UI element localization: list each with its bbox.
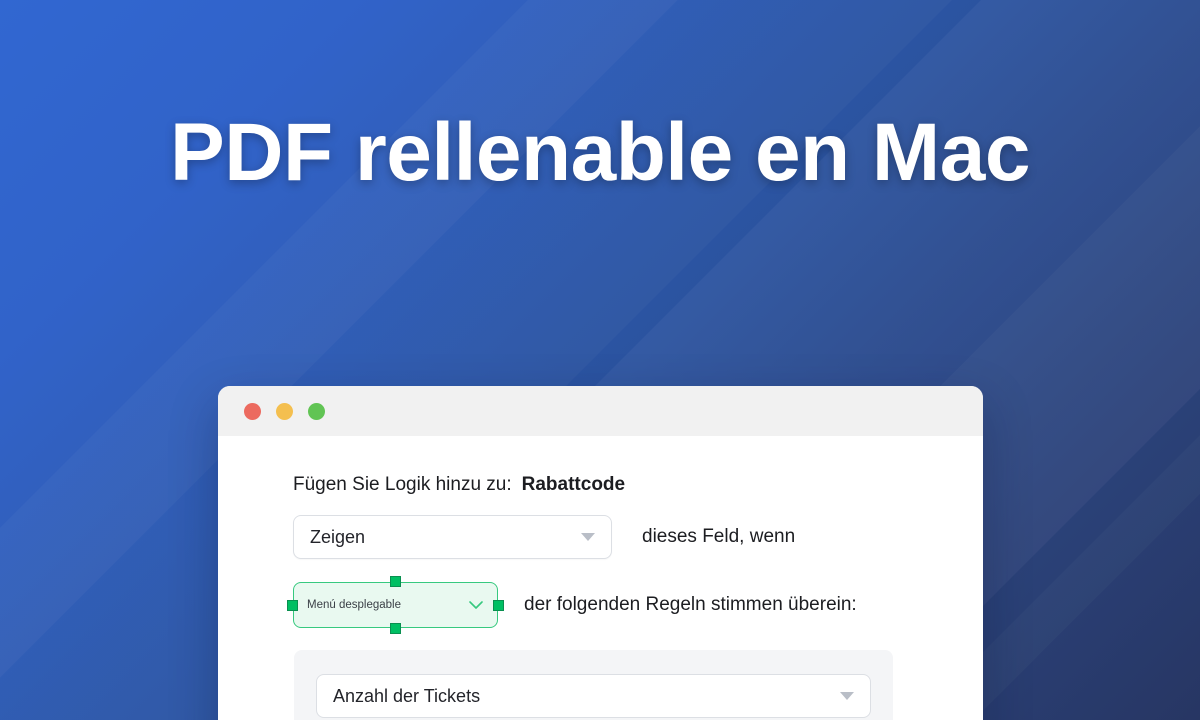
page-title: PDF rellenable en Mac [0, 96, 1200, 209]
rules-panel: Anzahl der Tickets [294, 650, 893, 720]
minimize-button[interactable] [276, 403, 293, 420]
logic-heading: Fügen Sie Logik hinzu zu:Rabattcode [293, 474, 625, 496]
window-titlebar [218, 386, 983, 436]
window-content: Fügen Sie Logik hinzu zu:Rabattcode Zeig… [218, 436, 983, 720]
rule-field-select[interactable]: Anzahl der Tickets [316, 674, 871, 718]
chevron-down-icon [469, 601, 483, 609]
browser-window: Fügen Sie Logik hinzu zu:Rabattcode Zeig… [218, 386, 983, 720]
close-button[interactable] [244, 403, 261, 420]
action-select-value: Zeigen [310, 527, 365, 548]
match-row: Menú desplegable der folgenden Regeln st… [218, 582, 983, 628]
selection-handle-bottom[interactable] [390, 623, 401, 634]
zoom-button[interactable] [308, 403, 325, 420]
selection-handle-left[interactable] [287, 600, 298, 611]
rule-field-value: Anzahl der Tickets [333, 686, 480, 707]
action-select[interactable]: Zeigen [293, 515, 612, 559]
caret-down-icon [840, 692, 854, 700]
match-select-wrapper: Menú desplegable [293, 582, 498, 628]
logic-heading-label: Fügen Sie Logik hinzu zu: [293, 474, 512, 495]
action-row: Zeigen dieses Feld, wenn [218, 515, 983, 559]
selection-handle-top[interactable] [390, 576, 401, 587]
hero-stage: PDF rellenable en Mac Fügen Sie Logik hi… [0, 0, 1200, 720]
logic-field-name: Rabattcode [522, 474, 625, 495]
selection-handle-right[interactable] [493, 600, 504, 611]
logic-heading-row: Fügen Sie Logik hinzu zu:Rabattcode [218, 474, 983, 496]
action-after-text: dieses Feld, wenn [642, 526, 795, 548]
match-select[interactable]: Menú desplegable [293, 582, 498, 628]
match-after-text: der folgenden Regeln stimmen überein: [524, 594, 857, 616]
match-select-value: Menú desplegable [307, 599, 401, 611]
caret-down-icon [581, 533, 595, 541]
